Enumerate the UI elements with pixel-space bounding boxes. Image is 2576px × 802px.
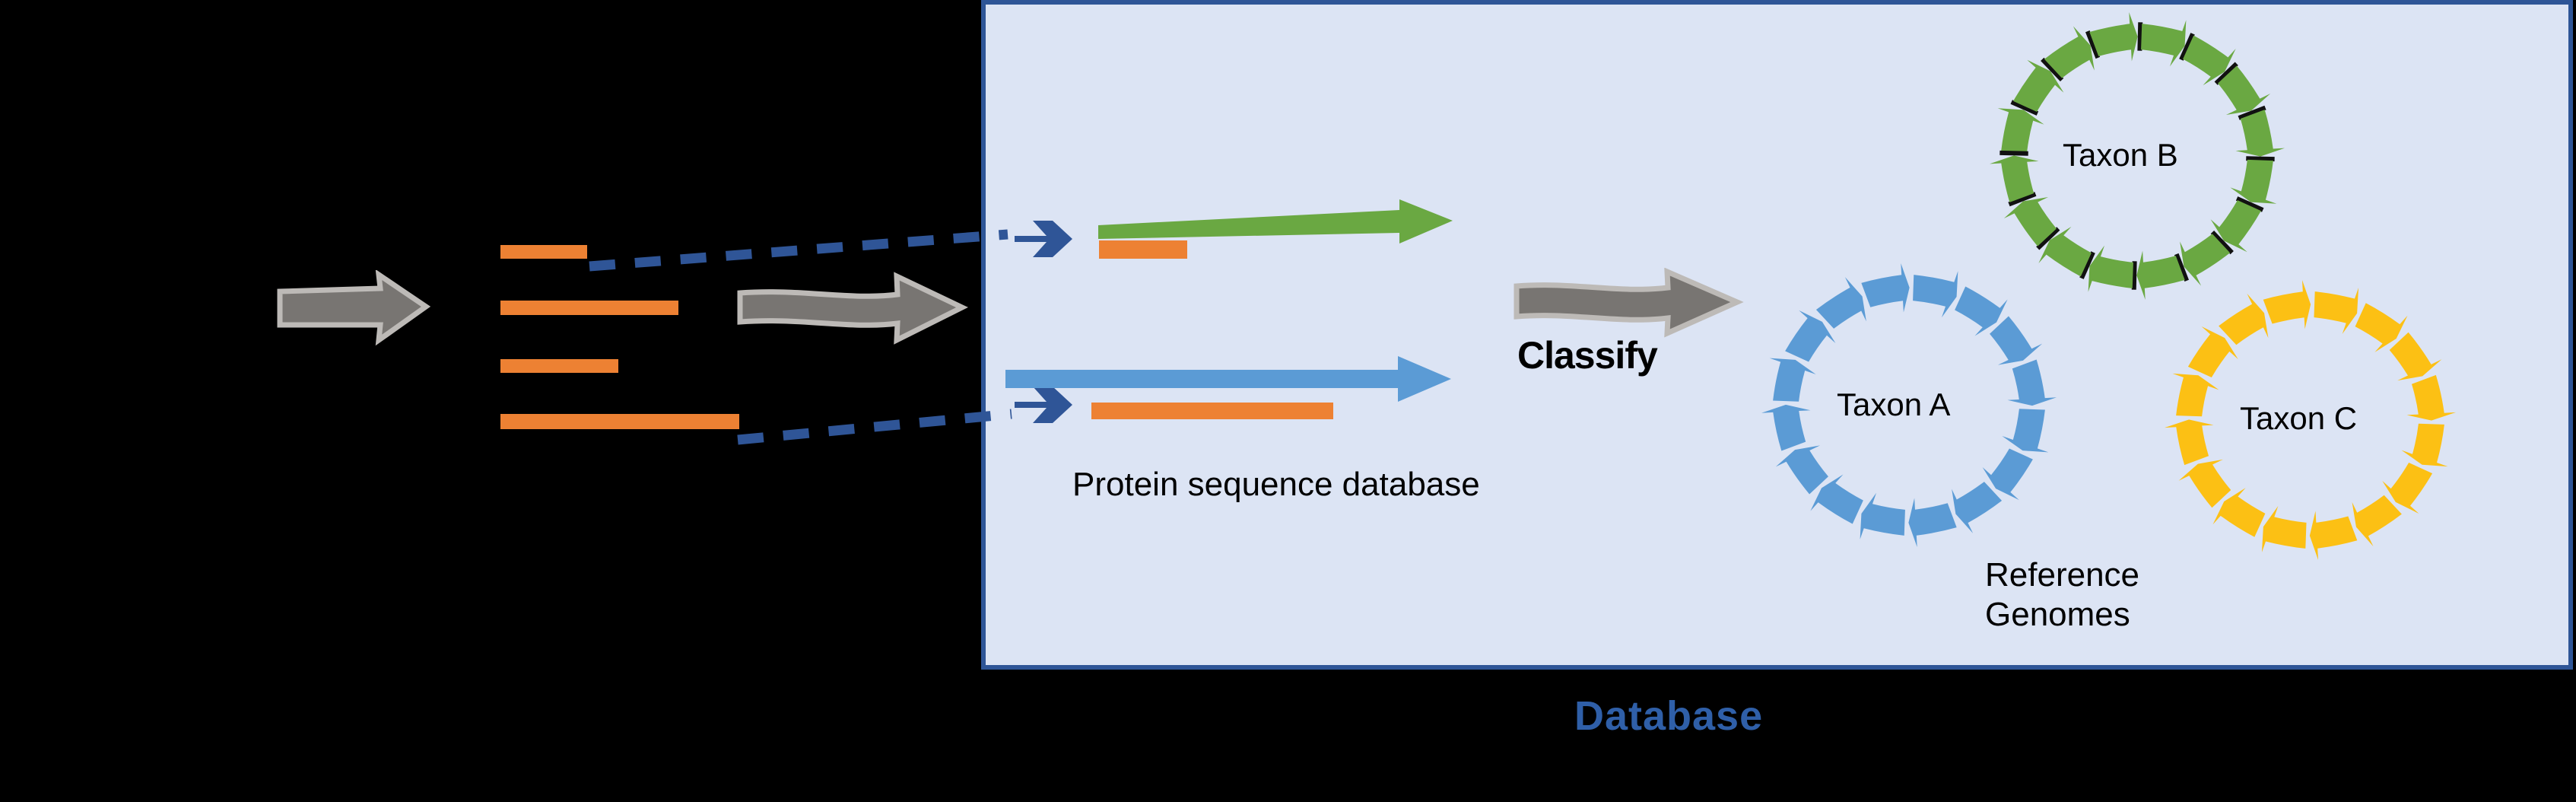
genome-arrow-segment	[2314, 288, 2358, 334]
genome-gene-tick	[2139, 22, 2140, 50]
classify-arrow	[1512, 268, 1748, 338]
genome-arrow-segment	[2088, 246, 2133, 292]
genome-arrow-segment	[1761, 405, 1811, 451]
genome-arrow-segment	[2002, 409, 2048, 452]
taxon-a-label: Taxon A	[1837, 387, 1950, 423]
database-entry-bottom-gene-arrow	[1002, 355, 1459, 408]
connector-bottom	[734, 403, 1015, 449]
protein-sequence-database-label: Protein sequence database	[1072, 466, 1480, 504]
taxon-c-label: Taxon C	[2240, 400, 2357, 437]
genome-arrow-segment	[2173, 374, 2219, 416]
database-title: Database	[1574, 692, 1763, 740]
connector-top	[586, 221, 1012, 274]
genome-gene-tick	[1999, 153, 2028, 154]
reference-genomes-line-2: Genomes	[1985, 595, 2139, 635]
reads-to-database-arrow	[734, 270, 977, 346]
genome-arrow-segment	[2262, 506, 2307, 552]
database-entry-top-arrowhead	[1010, 215, 1078, 268]
genome-arrow-segment	[1861, 263, 1909, 313]
genome-arrow-segment	[2352, 495, 2402, 546]
database-entry-bottom-mapped-read	[1091, 403, 1333, 419]
reference-genomes-line-1: Reference	[1985, 555, 2139, 595]
genome-arrow-segment	[1990, 317, 2042, 365]
genome-arrow-segment	[1776, 445, 1828, 494]
genome-arrow-segment	[2230, 160, 2276, 204]
database-entry-top-mapped-read	[1099, 240, 1187, 259]
genome-arrow-segment	[2390, 333, 2442, 380]
genome-arrow-segment	[2310, 511, 2357, 561]
genome-arrow-segment	[1998, 108, 2044, 152]
read-bar	[500, 301, 678, 315]
diagram-canvas: Protein sequence database Classify Taxon…	[0, 0, 2576, 802]
read-bar	[500, 359, 618, 373]
genome-arrow-segment	[2179, 460, 2231, 508]
genome-arrow-segment	[1913, 271, 1958, 317]
genome-arrow-segment	[1860, 493, 1905, 539]
genome-arrow-segment	[2165, 419, 2214, 465]
genome-arrow-segment	[1770, 358, 1816, 402]
read-bar	[500, 414, 739, 429]
taxon-b-label: Taxon B	[2063, 137, 2178, 173]
genome-arrow-segment	[2008, 359, 2057, 406]
read-bar	[500, 245, 587, 259]
genome-gene-tick	[2134, 261, 2135, 289]
genome-arrow-segment	[2219, 294, 2268, 345]
genome-arrow-segment	[1816, 277, 1866, 329]
genome-arrow-segment	[1908, 498, 1956, 548]
genome-gene-tick	[2246, 158, 2274, 159]
genome-arrow-segment	[2407, 375, 2457, 421]
sample-input-arrow	[274, 270, 434, 346]
genome-arrow-segment	[2141, 20, 2186, 66]
genome-arrow-segment	[1952, 482, 2002, 533]
genome-arrow-segment	[2263, 280, 2311, 329]
reference-genomes-label: Reference Genomes	[1985, 555, 2139, 635]
genome-arrow-segment	[2402, 424, 2448, 466]
classify-label: Classify	[1517, 333, 1657, 377]
